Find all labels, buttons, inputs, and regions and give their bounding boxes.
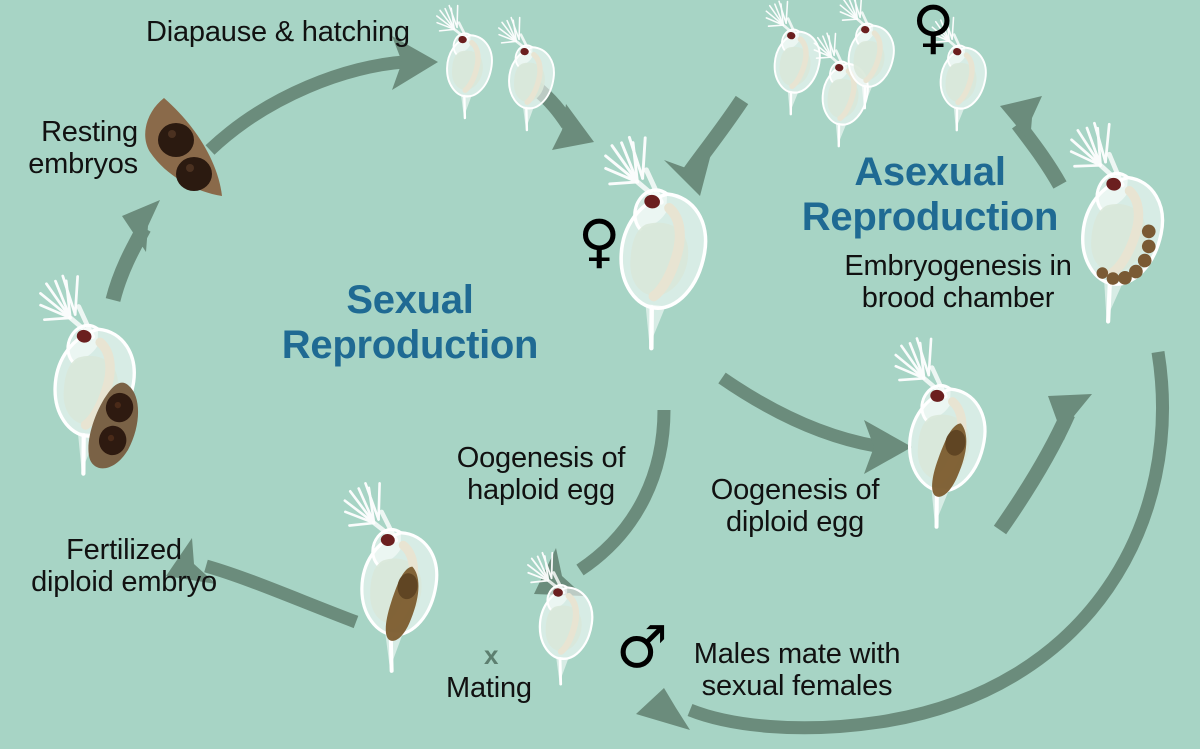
arrow-clone-release <box>664 100 742 196</box>
diagram-canvas <box>0 0 1200 749</box>
label-fertilized-diploid-embryo: Fertilized diploid embryo <box>16 534 232 599</box>
resting-embryo-1 <box>158 123 194 157</box>
male-symbol-bottom: ♂ <box>616 618 668 676</box>
arrow-oogenesis-diploid <box>722 378 912 474</box>
fertilized-female <box>11 271 160 482</box>
label-embryogenesis-brood-chamber: Embryogenesis in brood chamber <box>836 250 1080 315</box>
resting-embryo-2 <box>176 157 212 191</box>
female-symbol-center: ♀ <box>578 212 620 270</box>
label-males-mate-sexual-females: Males mate with sexual females <box>682 638 912 703</box>
heading-sexual-reproduction: Sexual Reproduction <box>270 278 550 368</box>
daphnia-life-cycle-diagram: Diapause & hatching Resting embryos Asex… <box>0 0 1200 749</box>
arrow-hatching <box>210 36 438 150</box>
label-cross-mark: x <box>484 642 498 668</box>
female-symbol-top-right: ♀ <box>912 0 954 56</box>
label-oogenesis-diploid-egg: Oogenesis of diploid egg <box>700 474 890 539</box>
label-resting-embryos: Resting embryos <box>20 116 138 181</box>
arrow-ephippium-formation <box>113 200 160 300</box>
arrow-embryogenesis <box>1000 394 1092 530</box>
label-diapause-hatching: Diapause & hatching <box>146 16 410 48</box>
juvenile-hatchling-2 <box>485 15 561 133</box>
label-oogenesis-haploid-egg: Oogenesis of haploid egg <box>446 442 636 507</box>
label-mating: Mating <box>446 672 532 704</box>
sexual-female-haploid-egg <box>322 479 449 675</box>
heading-asexual-reproduction: Asexual Reproduction <box>790 150 1070 240</box>
